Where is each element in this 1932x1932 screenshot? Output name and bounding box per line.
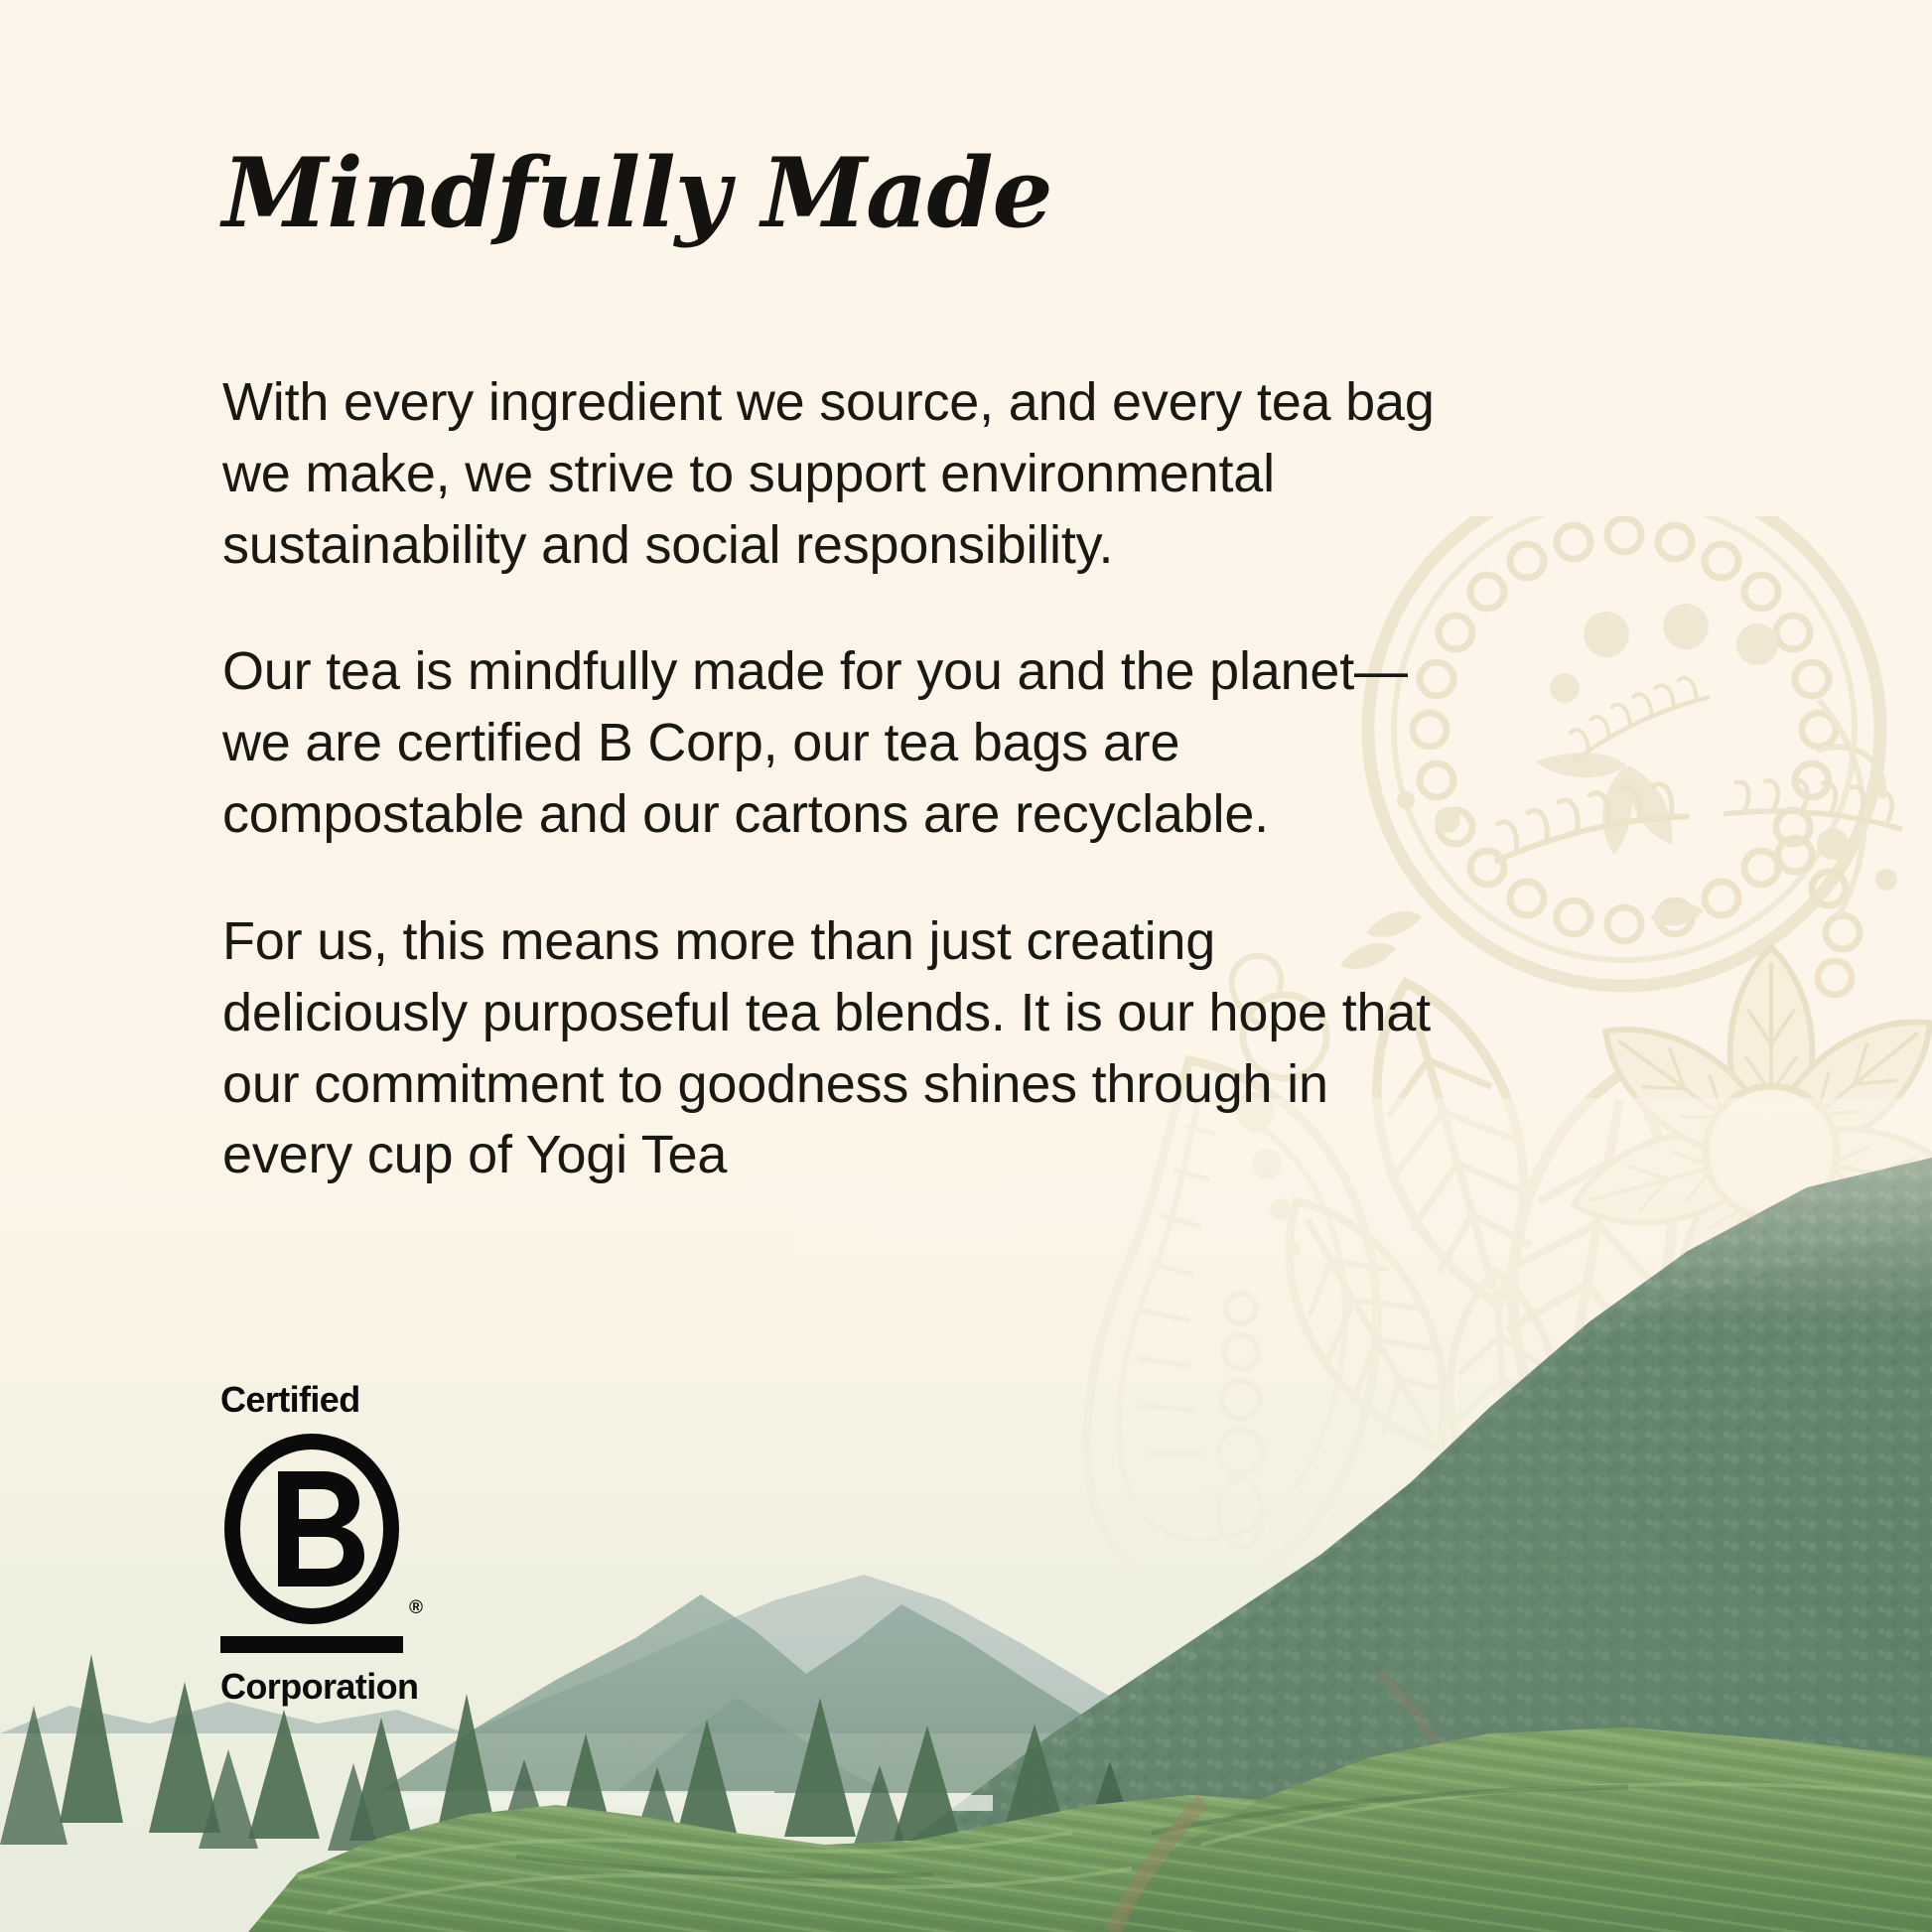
registered-trademark-icon: ® [409,1598,423,1617]
bcorp-logo: Certified ® Corporation [220,1382,449,1705]
body-copy: With every ingredient we source, and eve… [222,367,1444,1191]
page-title: Mindfully Made [222,137,1052,249]
bcorp-certified-label: Certified [220,1382,449,1418]
content-area: Mindfully Made With every ingredient we … [0,0,1932,1932]
paragraph-3: For us, this means more than just creati… [222,906,1444,1191]
mindfully-made-card: Mindfully Made With every ingredient we … [0,0,1932,1932]
bcorp-b-mark-icon: ® [220,1432,403,1626]
bcorp-divider [220,1636,403,1653]
paragraph-2: Our tea is mindfully made for you and th… [222,636,1444,850]
bcorp-corporation-label: Corporation [220,1669,449,1705]
paragraph-1: With every ingredient we source, and eve… [222,367,1444,581]
